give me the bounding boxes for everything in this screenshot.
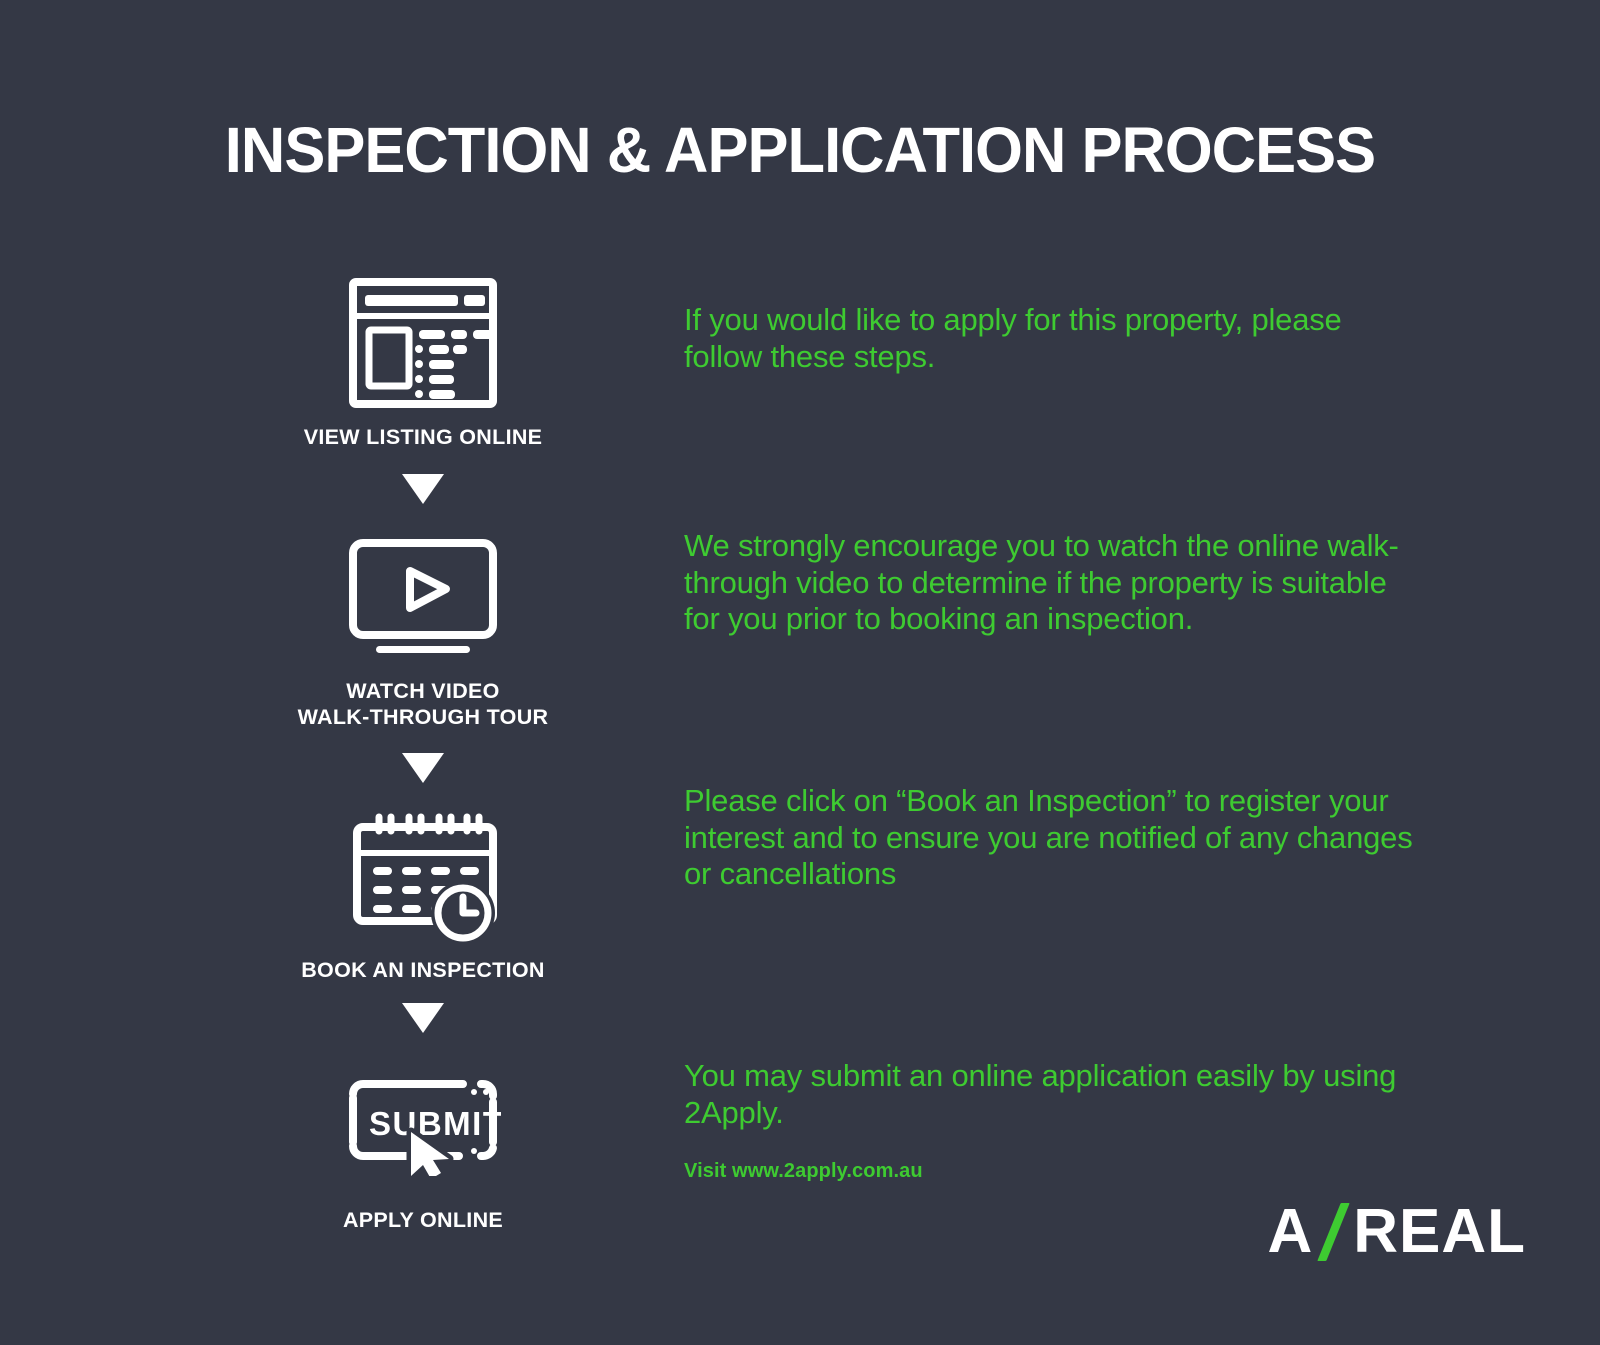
step-label: APPLY ONLINE [248, 1207, 598, 1233]
flow-arrow-3 [248, 1003, 598, 1033]
infographic-poster: INSPECTION & APPLICATION PROCESS [0, 0, 1600, 1345]
visit-url-text[interactable]: Visit www.2apply.com.au [684, 1160, 923, 1183]
arrow-down-icon [402, 1003, 444, 1033]
step-copy-1: If you would like to apply for this prop… [684, 302, 1424, 375]
browser-listing-icon [248, 268, 598, 418]
flow-arrow-1 [248, 474, 598, 504]
calendar-clock-icon [248, 801, 598, 951]
video-play-monitor-icon [248, 522, 598, 672]
step-watch-video: WATCH VIDEO WALK-THROUGH TOUR [248, 522, 598, 730]
step-label-line-1: WATCH VIDEO [248, 678, 598, 704]
flow-arrow-2 [248, 753, 598, 783]
page-title: INSPECTION & APPLICATION PROCESS [32, 118, 1568, 182]
step-book-inspection: BOOK AN INSPECTION [248, 801, 598, 983]
submit-button-cursor-icon: SUBMIT [248, 1051, 598, 1201]
step-view-listing: VIEW LISTING ONLINE [248, 268, 598, 450]
arrow-down-icon [402, 474, 444, 504]
logo-slash-icon [1315, 1203, 1351, 1261]
step-label-line-2: WALK-THROUGH TOUR [248, 704, 598, 730]
arrow-down-icon [402, 753, 444, 783]
step-copy-3: Please click on “Book an Inspection” to … [684, 783, 1424, 893]
logo-letter-a: A [1267, 1201, 1313, 1263]
logo-word-real: REAL [1353, 1201, 1526, 1263]
step-label: BOOK AN INSPECTION [248, 957, 598, 983]
steps-column: VIEW LISTING ONLINE WATCH VIDEO WALK-THR… [248, 268, 598, 1233]
svg-text:SUBMIT: SUBMIT [369, 1105, 501, 1142]
step-copy-4: You may submit an online application eas… [684, 1058, 1424, 1131]
step-label: VIEW LISTING ONLINE [248, 424, 598, 450]
brand-logo: A REAL [1267, 1202, 1526, 1262]
step-apply-online: SUBMIT APPLY ONLINE [248, 1051, 598, 1233]
step-label: WATCH VIDEO WALK-THROUGH TOUR [248, 678, 598, 730]
step-copy-2: We strongly encourage you to watch the o… [684, 528, 1424, 638]
